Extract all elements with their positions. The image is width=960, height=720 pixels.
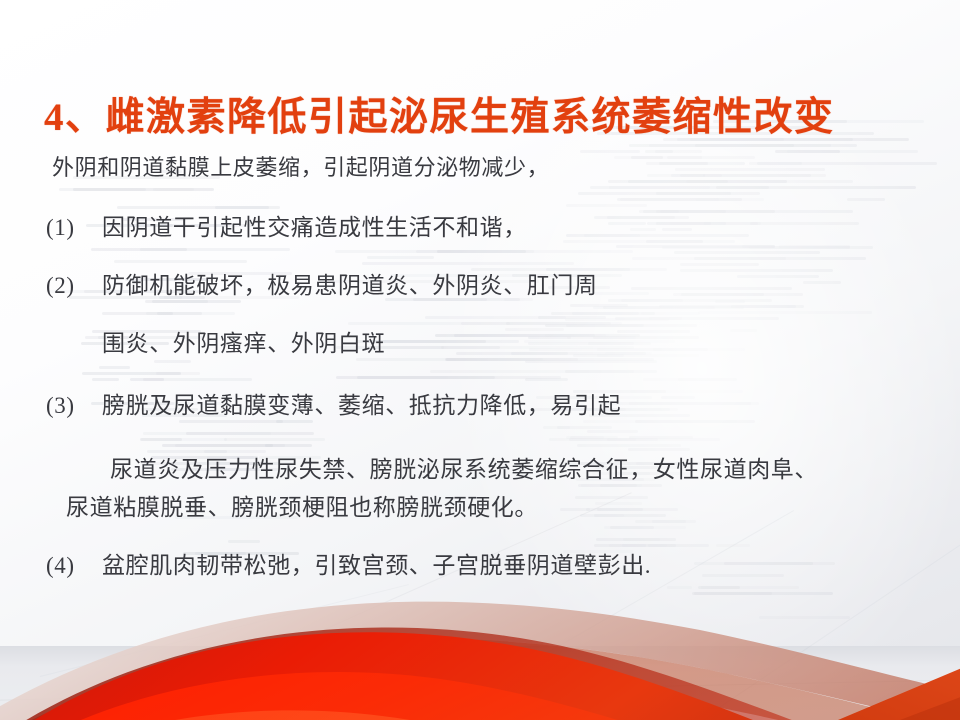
body-line-item3: (3)膀胱及尿道黏膜变薄、萎缩、抵抗力降低，易引起 (46, 386, 621, 420)
body-line-text: 盆腔肌肉韧带松弛，引致宫颈、子宫脱垂阴道壁彭出. (102, 553, 651, 578)
body-line-item3c: 尿道粘膜脱垂、膀胱颈梗阻也称膀胱颈硬化。 (66, 488, 538, 522)
body-line-text: 尿道粘膜脱垂、膀胱颈梗阻也称膀胱颈硬化。 (66, 495, 538, 520)
body-line-text: 外阴和阴道黏膜上皮萎缩，引起阴道分泌物减少， (52, 155, 549, 180)
body-line-item4: (4)盆腔肌肉韧带松弛，引致宫颈、子宫脱垂阴道壁彭出. (46, 546, 651, 580)
body-line-text: 因阴道干引起性交痛造成性生活不和谐， (102, 215, 527, 240)
body-line-lead: 外阴和阴道黏膜上皮萎缩，引起阴道分泌物减少， (52, 150, 549, 182)
body-line-item2b: 围炎、外阴瘙痒、外阴白斑 (102, 324, 385, 358)
body-text-block: 外阴和阴道黏膜上皮萎缩，引起阴道分泌物减少，(1)因阴道干引起性交痛造成性生活不… (0, 0, 960, 720)
body-line-item2: (2)防御机能破坏，极易患阴道炎、外阴炎、肛门周 (46, 266, 598, 300)
body-line-text: 尿道炎及压力性尿失禁、膀胱泌尿系统萎缩综合征，女性尿道肉阜、 (110, 457, 818, 482)
body-line-text: 膀胱及尿道黏膜变薄、萎缩、抵抗力降低，易引起 (102, 393, 621, 418)
body-line-item1: (1)因阴道干引起性交痛造成性生活不和谐， (46, 208, 527, 242)
list-marker: (3) (46, 393, 102, 419)
list-marker: (1) (46, 215, 102, 241)
list-marker: (4) (46, 553, 102, 579)
body-line-item3b: 尿道炎及压力性尿失禁、膀胱泌尿系统萎缩综合征，女性尿道肉阜、 (110, 450, 818, 484)
slide-canvas: 4、雌激素降低引起泌尿生殖系统萎缩性改变 外阴和阴道黏膜上皮萎缩，引起阴道分泌物… (0, 0, 960, 720)
body-line-text: 防御机能破坏，极易患阴道炎、外阴炎、肛门周 (102, 273, 598, 298)
body-line-text: 围炎、外阴瘙痒、外阴白斑 (102, 331, 385, 356)
list-marker: (2) (46, 273, 102, 299)
